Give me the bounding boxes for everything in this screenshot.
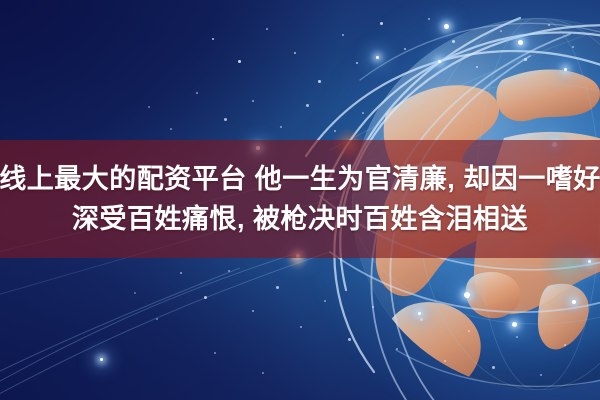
headline: 线上最大的配资平台 他一生为官清廉, 却因一嗜好 深受百姓痛恨, 被枪决时百姓含… [0,140,600,258]
headline-line-1: 线上最大的配资平台 他一生为官清廉, 却因一嗜好 [0,161,600,197]
banner-image: 线上最大的配资平台 他一生为官清廉, 却因一嗜好 深受百姓痛恨, 被枪决时百姓含… [0,0,600,400]
headline-line-2: 深受百姓痛恨, 被枪决时百姓含泪相送 [72,201,528,237]
